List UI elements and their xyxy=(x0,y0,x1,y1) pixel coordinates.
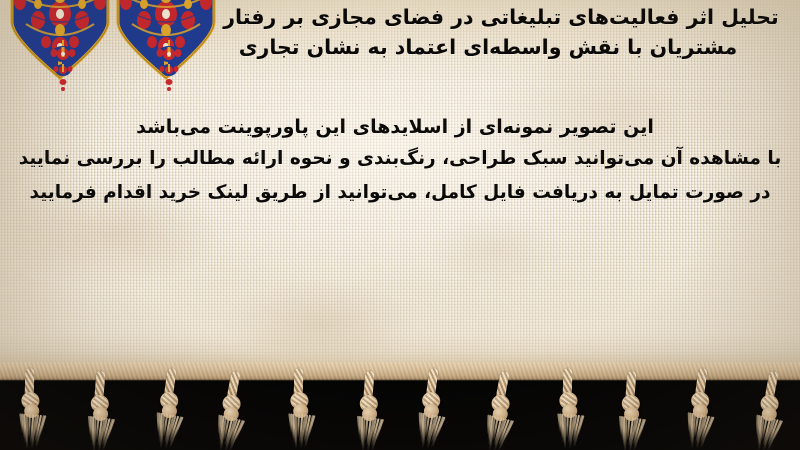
tassel-brush xyxy=(211,414,245,450)
tassel-brush xyxy=(554,413,583,450)
tassel-brush xyxy=(17,413,46,450)
tassel-brush xyxy=(83,416,113,450)
body-line-3: در صورت تمایل به دریافت فایل کامل، می‌تو… xyxy=(10,176,790,210)
medallion-pendant-icon xyxy=(46,38,80,98)
slide-canvas: تحلیل اثر فعالیت‌های تبلیغاتی در فضای مج… xyxy=(0,0,800,450)
tassel-brush xyxy=(479,414,513,450)
tassel-brush xyxy=(352,416,382,450)
tassel-brush xyxy=(681,412,713,450)
fringe-tassel xyxy=(153,368,185,449)
fringe-tassel xyxy=(213,370,249,450)
fringe-tassel xyxy=(415,368,447,449)
fringe-band xyxy=(0,362,800,380)
fringe-tassel xyxy=(482,370,518,450)
carpet-fringe xyxy=(0,362,800,450)
title-line-2: مشتریان با نقش واسطه‌ای اعتماد به نشان ت… xyxy=(216,32,786,62)
tassel-brush xyxy=(286,413,315,450)
title-line-1: تحلیل اثر فعالیت‌های تبلیغاتی در فضای مج… xyxy=(216,2,786,32)
fringe-tassel xyxy=(751,370,787,450)
tassel-brush xyxy=(615,416,645,450)
fringe-tassel xyxy=(615,371,647,450)
tassel-brush xyxy=(748,414,782,450)
body-line-2: با مشاهده آن می‌توانید سبک طراحی، رنگ‌بن… xyxy=(10,142,790,176)
tassel-brush xyxy=(150,412,182,450)
ornament-group xyxy=(0,0,236,116)
tassel-brush xyxy=(413,412,445,450)
fringe-tassel xyxy=(84,371,116,450)
medallion-pendant-icon xyxy=(152,38,186,98)
fringe-tassel xyxy=(684,368,716,449)
fringe-tassel xyxy=(551,367,587,449)
body-line-1: این تصویر نمونه‌ای از اسلایدهای این پاور… xyxy=(10,112,790,142)
slide-title: تحلیل اثر فعالیت‌های تبلیغاتی در فضای مج… xyxy=(216,2,786,62)
fringe-tassel xyxy=(282,367,318,449)
fringe-tassel xyxy=(353,371,385,450)
slide-body: این تصویر نمونه‌ای از اسلایدهای این پاور… xyxy=(10,112,790,210)
